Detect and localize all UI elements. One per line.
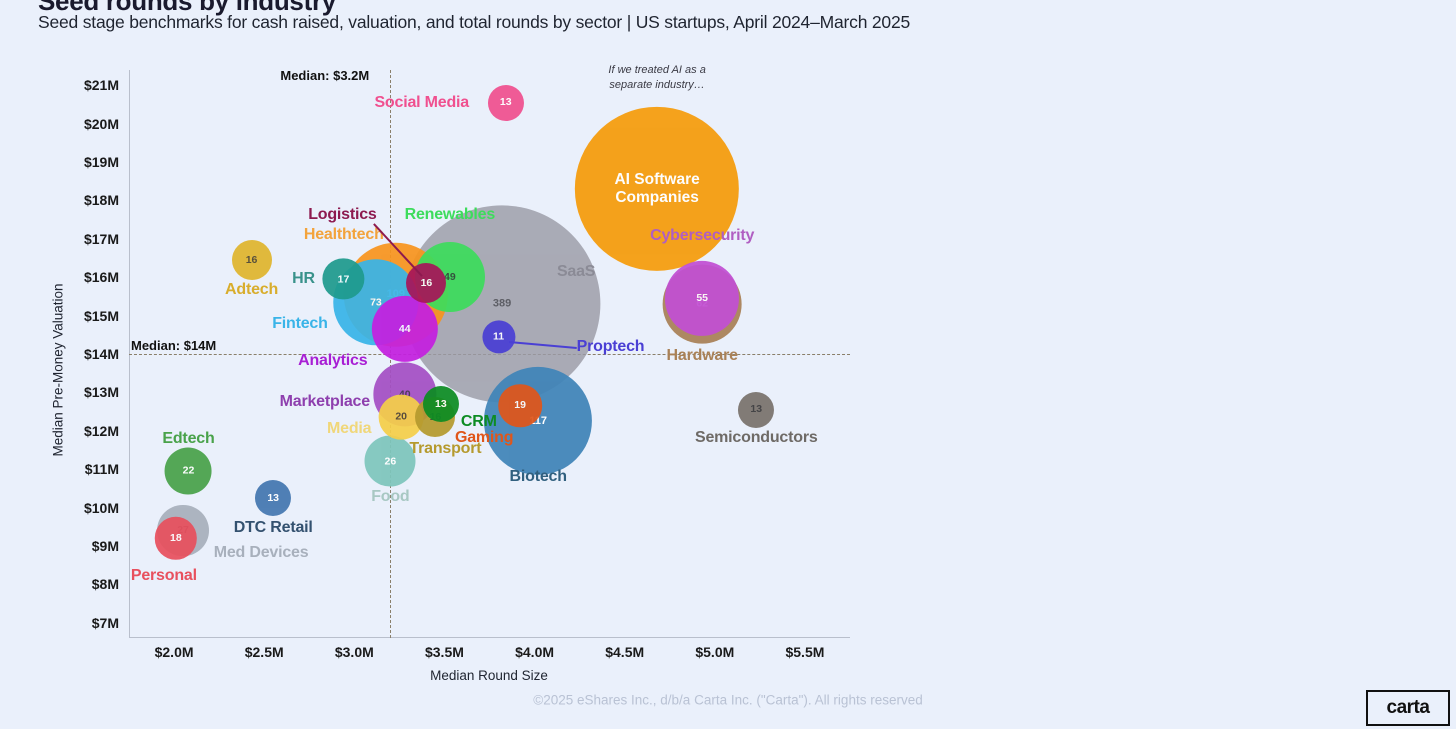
bubble-round-count: 18 bbox=[170, 533, 182, 544]
x-axis-tick: $2.5M bbox=[245, 644, 284, 660]
bubble-ai-software-companies[interactable]: AI Software Companies bbox=[575, 107, 739, 271]
y-axis-tick: $14M bbox=[84, 346, 119, 362]
bubble-label-dtc-retail: DTC Retail bbox=[234, 519, 313, 537]
median-round-size-label: Median: $3.2M bbox=[280, 68, 369, 83]
copyright-text: ©2025 eShares Inc., d/b/a Carta Inc. ("C… bbox=[533, 693, 922, 708]
x-axis-tick: $3.5M bbox=[425, 644, 464, 660]
bubble-round-count: 16 bbox=[246, 255, 258, 266]
bubble-dtc-retail[interactable]: 13 bbox=[255, 480, 291, 516]
bubble-label-proptech: Proptech bbox=[577, 338, 645, 356]
bubble-label-analytics: Analytics bbox=[298, 352, 367, 370]
bubble-label-social-media: Social Media bbox=[374, 94, 469, 112]
bubble-round-count: 13 bbox=[267, 493, 279, 504]
bubble-logistics[interactable]: 16 bbox=[406, 263, 446, 303]
bubble-edtech[interactable]: 22 bbox=[165, 448, 212, 495]
x-axis-tick: $3.0M bbox=[335, 644, 374, 660]
carta-logo: carta bbox=[1366, 690, 1450, 726]
y-axis-tick: $21M bbox=[84, 77, 119, 93]
bubble-label-media: Media bbox=[327, 420, 371, 438]
bubble-round-count: 11 bbox=[493, 331, 504, 342]
bubble-social-media[interactable]: 13 bbox=[488, 85, 524, 121]
bubble-label-edtech: Edtech bbox=[162, 430, 214, 448]
bubble-label-saas: SaaS bbox=[557, 263, 595, 281]
y-axis-tick: $7M bbox=[92, 615, 119, 631]
x-axis-tick: $5.5M bbox=[785, 644, 824, 660]
carta-logo-text: carta bbox=[1387, 697, 1430, 719]
y-axis-tick: $11M bbox=[85, 461, 119, 477]
y-axis-tick: $13M bbox=[84, 384, 119, 400]
bubble-chart-plot-area: $21M$20M$19M$18M$17M$16M$15M$14M$13M$12M… bbox=[129, 70, 850, 638]
y-axis-tick: $8M bbox=[92, 576, 119, 592]
x-axis-line bbox=[129, 637, 850, 638]
bubble-label-fintech: Fintech bbox=[272, 315, 328, 333]
median-valuation-label: Median: $14M bbox=[131, 338, 216, 353]
bubble-biotech[interactable]: 117 bbox=[484, 367, 592, 475]
bubble-round-count: 17 bbox=[338, 274, 350, 285]
bubble-round-count: 55 bbox=[696, 293, 708, 304]
bubble-label-med-devices: Med Devices bbox=[214, 544, 309, 562]
bubble-crm[interactable]: 13 bbox=[423, 386, 459, 422]
bubble-round-count: 26 bbox=[385, 456, 397, 467]
bubble-round-count: 22 bbox=[183, 466, 195, 477]
bubble-label-crm: CRM bbox=[461, 413, 497, 431]
bubble-round-count: 13 bbox=[500, 97, 512, 108]
bubble-round-count: 389 bbox=[493, 299, 511, 310]
y-axis-tick: $18M bbox=[84, 192, 119, 208]
bubble-label-biotech: Biotech bbox=[510, 468, 567, 486]
bubble-round-count: 13 bbox=[750, 404, 762, 415]
bubble-label-food: Food bbox=[371, 488, 409, 506]
ai-annotation-note: If we treated AI as a separate industry… bbox=[608, 63, 705, 93]
x-axis-tick: $4.5M bbox=[605, 644, 644, 660]
bubble-round-count: 44 bbox=[399, 324, 411, 335]
bubble-label-cybersecurity: Cybersecurity bbox=[650, 227, 754, 245]
bubble-label-semiconductors: Semiconductors bbox=[695, 429, 818, 447]
y-axis-tick: $10M bbox=[84, 500, 119, 516]
bubble-label-personal: Personal bbox=[131, 567, 197, 585]
bubble-label-transport: Transport bbox=[409, 440, 481, 458]
y-axis-title: Median Pre-Money Valuation bbox=[51, 283, 66, 456]
x-axis-tick: $2.0M bbox=[155, 644, 194, 660]
bubble-semiconductors[interactable]: 13 bbox=[738, 392, 774, 428]
bubble-cybersecurity[interactable]: 55 bbox=[665, 261, 739, 335]
bubble-round-count: 16 bbox=[421, 278, 433, 289]
y-axis-tick: $19M bbox=[84, 154, 119, 170]
bubble-round-count: 13 bbox=[435, 399, 447, 410]
bubble-inner-label: AI Software Companies bbox=[614, 171, 699, 207]
bubble-label-renewables: Renewables bbox=[405, 206, 496, 224]
bubble-round-count: 20 bbox=[395, 412, 407, 423]
y-axis-tick: $9M bbox=[92, 538, 119, 554]
bubble-label-adtech: Adtech bbox=[225, 281, 278, 299]
y-axis-tick: $15M bbox=[84, 308, 119, 324]
y-axis-tick: $17M bbox=[84, 231, 119, 247]
bubble-label-hr: HR bbox=[292, 270, 315, 288]
bubble-label-logistics: Logistics bbox=[308, 206, 376, 224]
y-axis-tick: $16M bbox=[84, 269, 119, 285]
bubble-label-healthtech: Healthtech bbox=[304, 226, 384, 244]
x-axis-title: Median Round Size bbox=[430, 668, 548, 683]
bubble-label-marketplace: Marketplace bbox=[280, 393, 370, 411]
y-axis-tick: $20M bbox=[84, 116, 119, 132]
x-axis-tick: $5.0M bbox=[695, 644, 734, 660]
chart-subtitle: Seed stage benchmarks for cash raised, v… bbox=[38, 12, 910, 33]
bubble-adtech[interactable]: 16 bbox=[232, 240, 272, 280]
bubble-gaming[interactable]: 19 bbox=[498, 384, 542, 428]
bubble-round-count: 19 bbox=[514, 401, 526, 412]
bubble-label-hardware: Hardware bbox=[667, 347, 738, 365]
bubble-food[interactable]: 26 bbox=[365, 436, 416, 487]
y-axis-tick: $12M bbox=[84, 423, 119, 439]
x-axis-tick: $4.0M bbox=[515, 644, 554, 660]
